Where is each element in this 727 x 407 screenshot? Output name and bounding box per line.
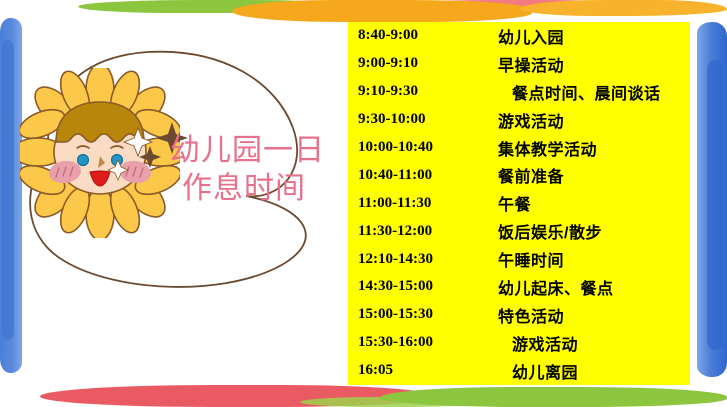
page-title: 幼儿园一日 作息时间: [170, 132, 348, 208]
green-brush-stroke: [300, 397, 480, 407]
schedule-activity: 午睡时间: [498, 247, 690, 271]
schedule-row: 12:10-14:30午睡时间: [348, 245, 690, 273]
schedule-time: 15:30-16:00: [348, 334, 498, 351]
schedule-time: 15:00-15:30: [348, 306, 498, 323]
red-brush-stroke: [40, 385, 440, 407]
schedule-panel: 8:40-9:00幼儿入园9:00-9:10早操活动9:10-9:30餐点时间、…: [348, 22, 690, 385]
schedule-time: 11:00-11:30: [348, 195, 498, 212]
schedule-row: 9:10-9:30餐点时间、晨间谈话: [348, 78, 690, 106]
schedule-activity: 集体教学活动: [498, 136, 690, 160]
schedule-time: 9:30-10:00: [348, 111, 498, 128]
page-title-line-2: 作息时间: [170, 170, 348, 208]
schedule-activity: 幼儿入园: [498, 24, 690, 48]
red-brush-stroke: [400, 0, 640, 8]
schedule-activity: 幼儿离园: [498, 359, 690, 383]
schedule-row: 11:30-12:00饭后娱乐/散步: [348, 217, 690, 245]
schedule-row: 10:40-11:00餐前准备: [348, 161, 690, 189]
green-brush-stroke: [78, 0, 368, 13]
schedule-time: 11:30-12:00: [348, 223, 498, 240]
schedule-activity: 午餐: [498, 191, 690, 215]
blue-brush-stroke: [697, 22, 727, 377]
schedule-time: 14:30-15:00: [348, 278, 498, 295]
schedule-activity: 游戏活动: [498, 108, 690, 132]
schedule-activity: 餐点时间、晨间谈话: [498, 80, 690, 104]
schedule-time: 9:00-9:10: [348, 55, 498, 72]
schedule-row: 16:05幼儿离园: [348, 357, 690, 385]
kindergarten-daily-schedule-poster: 幼儿园一日 作息时间 8:40-9:00幼儿入园9:00-9:10早操活动9:1…: [0, 0, 727, 407]
schedule-row: 8:40-9:00幼儿入园: [348, 22, 690, 50]
schedule-row: 9:00-9:10早操活动: [348, 50, 690, 78]
schedule-activity: 幼儿起床、餐点: [498, 275, 690, 299]
orange-brush-stroke: [232, 0, 532, 22]
schedule-time: 16:05: [348, 362, 498, 379]
schedule-row: 15:00-15:30特色活动: [348, 301, 690, 329]
schedule-row: 11:00-11:30午餐: [348, 189, 690, 217]
schedule-row: 9:30-10:00游戏活动: [348, 106, 690, 134]
schedule-time: 10:00-10:40: [348, 139, 498, 156]
schedule-time: 12:10-14:30: [348, 251, 498, 268]
schedule-row: 10:00-10:40集体教学活动: [348, 134, 690, 162]
schedule-row: 14:30-15:00幼儿起床、餐点: [348, 273, 690, 301]
orange-brush-stroke: [520, 0, 727, 16]
schedule-row: 15:30-16:00游戏活动: [348, 329, 690, 357]
schedule-activity: 游戏活动: [498, 331, 690, 355]
schedule-activity: 早操活动: [498, 52, 690, 76]
illustration-panel: 幼儿园一日 作息时间: [18, 20, 348, 388]
schedule-time: 10:40-11:00: [348, 167, 498, 184]
schedule-time: 9:10-9:30: [348, 83, 498, 100]
schedule-time: 8:40-9:00: [348, 27, 498, 44]
green-brush-stroke: [380, 387, 727, 407]
blue-brush-stroke: [707, 60, 723, 350]
schedule-activity: 餐前准备: [498, 163, 690, 187]
schedule-activity: 特色活动: [498, 303, 690, 327]
schedule-activity: 饭后娱乐/散步: [498, 219, 690, 243]
page-title-line-1: 幼儿园一日: [170, 132, 348, 170]
